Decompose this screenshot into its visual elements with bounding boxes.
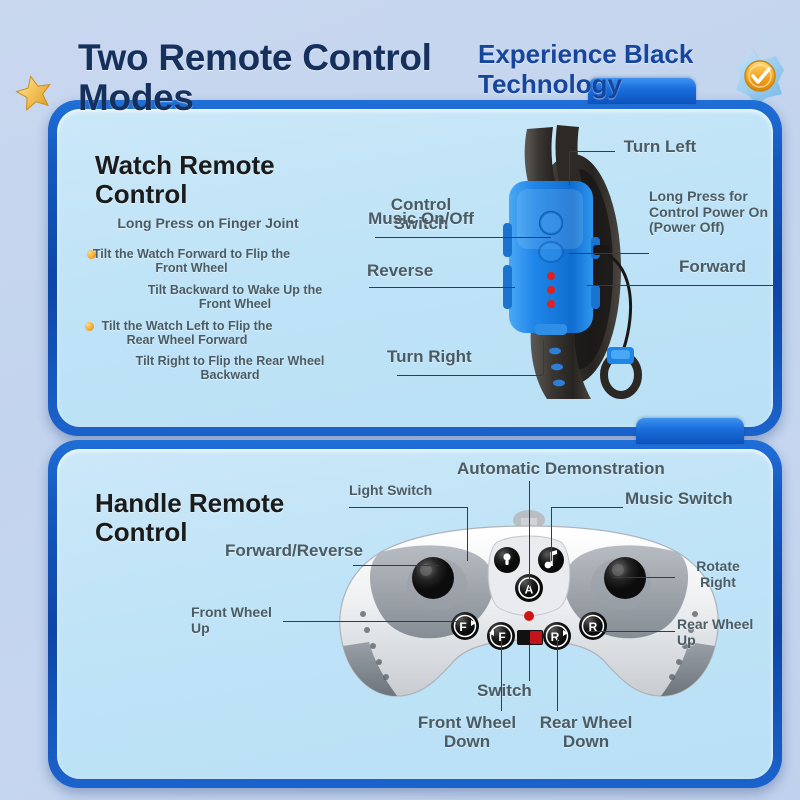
leader-line [551,507,552,561]
callout-long-press-power: Long Press for Control Power On (Power O… [649,189,773,236]
callout-music-on-off: Music On/Off [367,209,475,228]
callout-music-switch: Music Switch [625,489,753,508]
callout-front-wheel-down: Front Wheel Down [407,713,527,751]
leader-line [349,507,467,508]
leader-line [569,151,570,185]
leader-line [569,253,649,254]
callout-automatic-demonstration: Automatic Demonstration [457,459,709,478]
watch-instruction-1: Tilt the Watch Forward to Flip the Front… [89,247,294,275]
leader-line [587,631,675,632]
leader-line [569,151,615,152]
callout-switch: Switch [477,681,557,700]
watch-section-title: Watch Remote Control [95,151,345,209]
svg-text:F: F [498,630,505,644]
callout-forward-reverse: Forward/Reverse [225,541,385,560]
svg-text:F: F [459,620,466,634]
star-icon [14,72,54,112]
watch-instruction-3: Tilt the Watch Left to Flip the Rear Whe… [87,319,287,347]
leader-line [543,341,544,375]
handle-remote-panel: Handle Remote Control [48,440,782,788]
leader-line [613,577,675,578]
callout-rear-wheel-up: Rear Wheel Up [677,617,763,648]
leader-line [529,645,530,681]
callout-turn-right: Turn Right [387,347,497,366]
watch-instruction-0: Long Press on Finger Joint [113,216,303,232]
callout-front-wheel-up: Front Wheel Up [191,605,283,636]
callout-light-switch: Light Switch [349,483,459,499]
leader-line [551,507,623,508]
callout-turn-left: Turn Left [615,137,705,156]
leader-line [467,507,468,561]
watch-remote-device [487,119,647,409]
leader-line [397,375,543,376]
leader-line [501,639,502,711]
leader-line [283,621,465,622]
callout-rotate-right: Rotate Right [677,559,759,590]
callout-rear-wheel-down: Rear Wheel Down [525,713,647,751]
leader-line [557,639,558,711]
watch-instruction-4: Tilt Right to Flip the Rear Wheel Backwa… [135,354,325,382]
watch-instruction-2: Tilt Backward to Wake Up the Front Wheel [135,283,335,311]
leader-line [529,481,530,587]
page-subtitle: Experience Black Technology [478,40,748,100]
callout-forward: Forward [679,257,773,276]
panel-tab-handle [636,418,744,444]
leader-line [369,287,515,288]
leader-line [353,565,439,566]
leader-line [375,237,551,238]
callout-reverse: Reverse [367,261,467,280]
watch-remote-panel: Watch Remote Control Long Press on Finge… [48,100,782,436]
svg-text:R: R [551,630,560,644]
leader-line [587,285,773,286]
